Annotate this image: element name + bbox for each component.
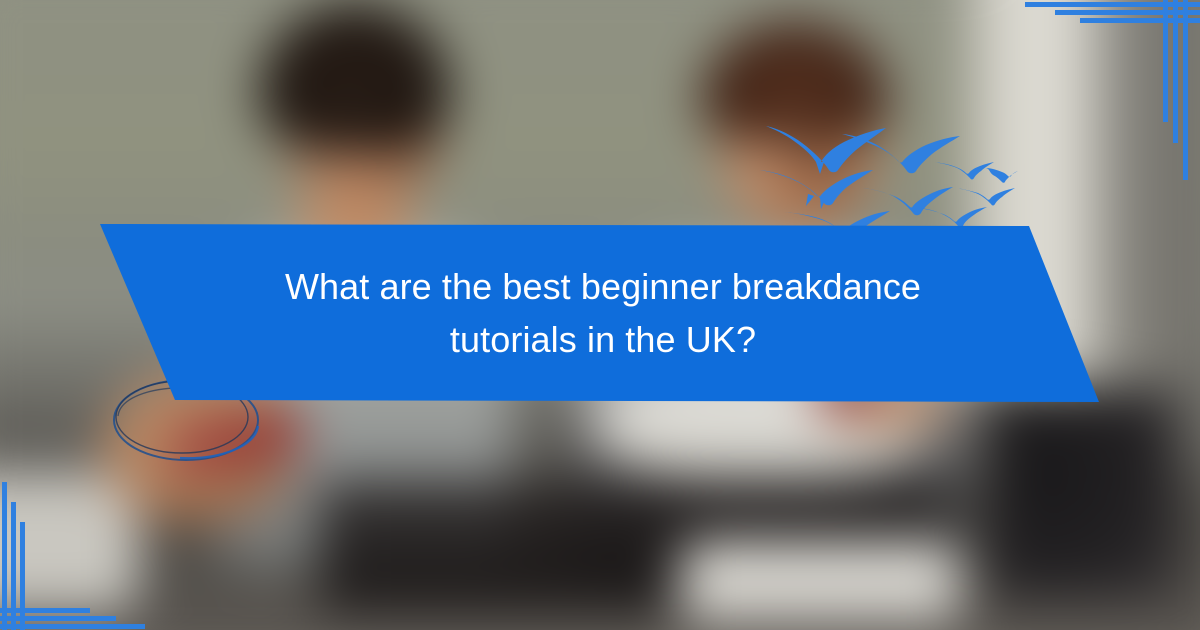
corner-line-h2 — [0, 616, 116, 621]
foreground-light-shape-bottom — [680, 540, 960, 620]
corner-line-v2 — [1173, 0, 1178, 143]
corner-line-h1 — [0, 608, 90, 613]
corner-line-v3 — [1183, 0, 1188, 180]
bird-flock-icon — [758, 112, 1018, 234]
corner-line-v3 — [20, 522, 25, 630]
foreground-dark-shape-right — [988, 390, 1178, 600]
corner-line-v1 — [1163, 0, 1168, 122]
share-card-canvas: What are the best beginner breakdance tu… — [0, 0, 1200, 630]
headline-banner: What are the best beginner breakdance tu… — [92, 222, 1106, 404]
corner-bracket-top-right — [1000, 0, 1200, 180]
corner-line-h3 — [0, 624, 145, 629]
corner-bracket-bottom-left — [0, 450, 200, 630]
corner-line-h3 — [1080, 18, 1200, 23]
corner-line-h2 — [1055, 10, 1200, 15]
page-title: What are the best beginner breakdance tu… — [245, 260, 953, 367]
